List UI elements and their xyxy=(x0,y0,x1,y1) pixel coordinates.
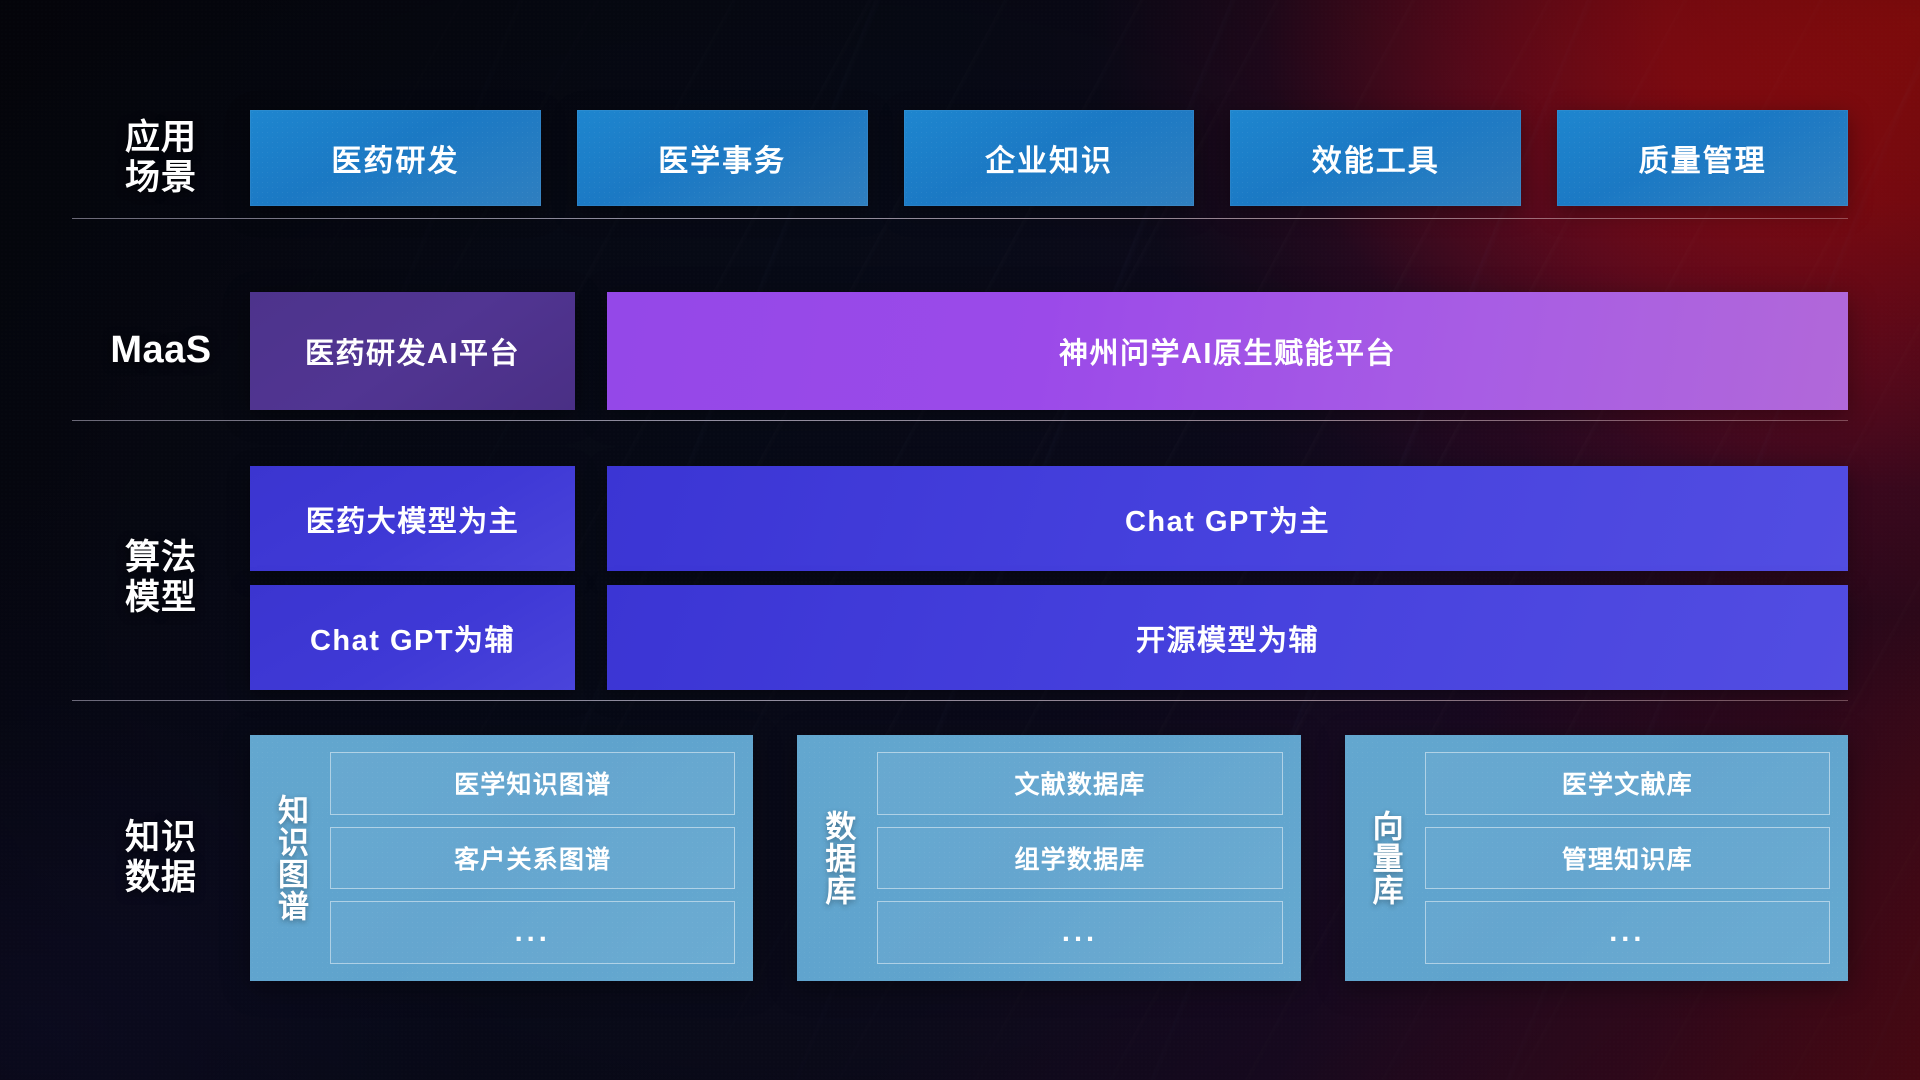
knowledge-item-label: 组学数据库 xyxy=(1014,840,1145,876)
row-knowledge-data: 知识 数据 知识图谱 医学知识图谱 客户关系图谱 ... xyxy=(72,735,1848,981)
divider-apps-maas xyxy=(72,218,1848,219)
knowledge-item-list: 医学文献库 管理知识库 ... xyxy=(1425,752,1830,964)
maas-card-list: 医药研发AI平台 神州问学AI原生赋能平台 xyxy=(250,292,1848,410)
algorithm-row-primary: 医药大模型为主 Chat GPT为主 xyxy=(250,466,1848,571)
knowledge-panel-title: 数据库 xyxy=(811,752,863,964)
knowledge-item-list: 文献数据库 组学数据库 ... xyxy=(877,752,1282,964)
knowledge-item-label: 医学知识图谱 xyxy=(454,765,611,801)
algo-card-chatgpt-primary[interactable]: Chat GPT为主 xyxy=(607,466,1848,571)
app-card-label: 效能工具 xyxy=(1312,136,1440,180)
knowledge-item-label: 医学文献库 xyxy=(1562,765,1693,801)
maas-card-pharma-ai-platform[interactable]: 医药研发AI平台 xyxy=(250,292,575,410)
maas-card-shenzhou-wenxue-platform[interactable]: 神州问学AI原生赋能平台 xyxy=(607,292,1848,410)
knowledge-panel-title: 知识图谱 xyxy=(264,752,316,964)
knowledge-panel-vector-store: 向量库 医学文献库 管理知识库 ... xyxy=(1345,735,1848,981)
algo-card-opensource-secondary[interactable]: 开源模型为辅 xyxy=(607,585,1848,690)
knowledge-item-medical-knowledge-graph[interactable]: 医学知识图谱 xyxy=(330,752,735,815)
knowledge-item-more[interactable]: ... xyxy=(1425,901,1830,964)
knowledge-item-medical-literature-store[interactable]: 医学文献库 xyxy=(1425,752,1830,815)
row-label-knowledge-data: 知识 数据 xyxy=(72,818,250,898)
row-label-algorithm-models: 算法 模型 xyxy=(72,538,250,618)
row-application-scenarios: 应用 场景 医药研发 医学事务 企业知识 效能工具 质量管理 xyxy=(72,110,1848,206)
knowledge-panel-knowledge-graph: 知识图谱 医学知识图谱 客户关系图谱 ... xyxy=(250,735,753,981)
algorithm-row-secondary: Chat GPT为辅 开源模型为辅 xyxy=(250,585,1848,690)
algo-card-label: 医药大模型为主 xyxy=(306,498,520,540)
maas-card-label: 医药研发AI平台 xyxy=(305,330,520,372)
maas-card-label: 神州问学AI原生赋能平台 xyxy=(1059,330,1396,372)
app-card-medicine-rd[interactable]: 医药研发 xyxy=(250,110,541,206)
slide-canvas: 应用 场景 医药研发 医学事务 企业知识 效能工具 质量管理 xyxy=(0,0,1920,1080)
app-card-label: 医药研发 xyxy=(331,136,459,180)
knowledge-panel-database: 数据库 文献数据库 组学数据库 ... xyxy=(797,735,1300,981)
algo-card-pharma-llm-primary[interactable]: 医药大模型为主 xyxy=(250,466,575,571)
knowledge-item-omics-database[interactable]: 组学数据库 xyxy=(877,827,1282,890)
knowledge-item-label: 管理知识库 xyxy=(1562,840,1693,876)
knowledge-item-management-knowledge-store[interactable]: 管理知识库 xyxy=(1425,827,1830,890)
divider-algo-knowledge xyxy=(72,700,1848,701)
app-card-efficiency-tools[interactable]: 效能工具 xyxy=(1230,110,1521,206)
knowledge-item-label: 文献数据库 xyxy=(1014,765,1145,801)
architecture-diagram: 应用 场景 医药研发 医学事务 企业知识 效能工具 质量管理 xyxy=(0,0,1920,1080)
row-algorithm-models: 算法 模型 医药大模型为主 Chat GPT为主 Chat GPT为辅 开源模型… xyxy=(72,466,1848,690)
algo-card-label: Chat GPT为辅 xyxy=(310,617,515,659)
application-card-list: 医药研发 医学事务 企业知识 效能工具 质量管理 xyxy=(250,110,1848,206)
app-card-quality-management[interactable]: 质量管理 xyxy=(1557,110,1848,206)
knowledge-item-label: ... xyxy=(1609,916,1645,949)
knowledge-item-more[interactable]: ... xyxy=(877,901,1282,964)
knowledge-item-label: ... xyxy=(1062,916,1098,949)
app-card-enterprise-knowledge[interactable]: 企业知识 xyxy=(904,110,1195,206)
knowledge-item-customer-relation-graph[interactable]: 客户关系图谱 xyxy=(330,827,735,890)
knowledge-panel-list: 知识图谱 医学知识图谱 客户关系图谱 ... 数据库 xyxy=(250,735,1848,981)
app-card-medical-affairs[interactable]: 医学事务 xyxy=(577,110,868,206)
knowledge-panel-title: 向量库 xyxy=(1359,752,1411,964)
app-card-label: 企业知识 xyxy=(985,136,1113,180)
app-card-label: 医学事务 xyxy=(658,136,786,180)
app-card-label: 质量管理 xyxy=(1639,136,1767,180)
row-label-maas: MaaS xyxy=(72,329,250,372)
algo-card-chatgpt-secondary[interactable]: Chat GPT为辅 xyxy=(250,585,575,690)
row-label-application-scenarios: 应用 场景 xyxy=(72,118,250,198)
row-maas: MaaS 医药研发AI平台 神州问学AI原生赋能平台 xyxy=(72,292,1848,410)
knowledge-item-literature-database[interactable]: 文献数据库 xyxy=(877,752,1282,815)
knowledge-item-more[interactable]: ... xyxy=(330,901,735,964)
algo-card-label: 开源模型为辅 xyxy=(1136,617,1319,659)
knowledge-item-label: ... xyxy=(515,916,551,949)
knowledge-item-list: 医学知识图谱 客户关系图谱 ... xyxy=(330,752,735,964)
knowledge-item-label: 客户关系图谱 xyxy=(454,840,611,876)
algorithm-card-grid: 医药大模型为主 Chat GPT为主 Chat GPT为辅 开源模型为辅 xyxy=(250,466,1848,690)
divider-maas-algo xyxy=(72,420,1848,421)
algo-card-label: Chat GPT为主 xyxy=(1125,498,1330,540)
